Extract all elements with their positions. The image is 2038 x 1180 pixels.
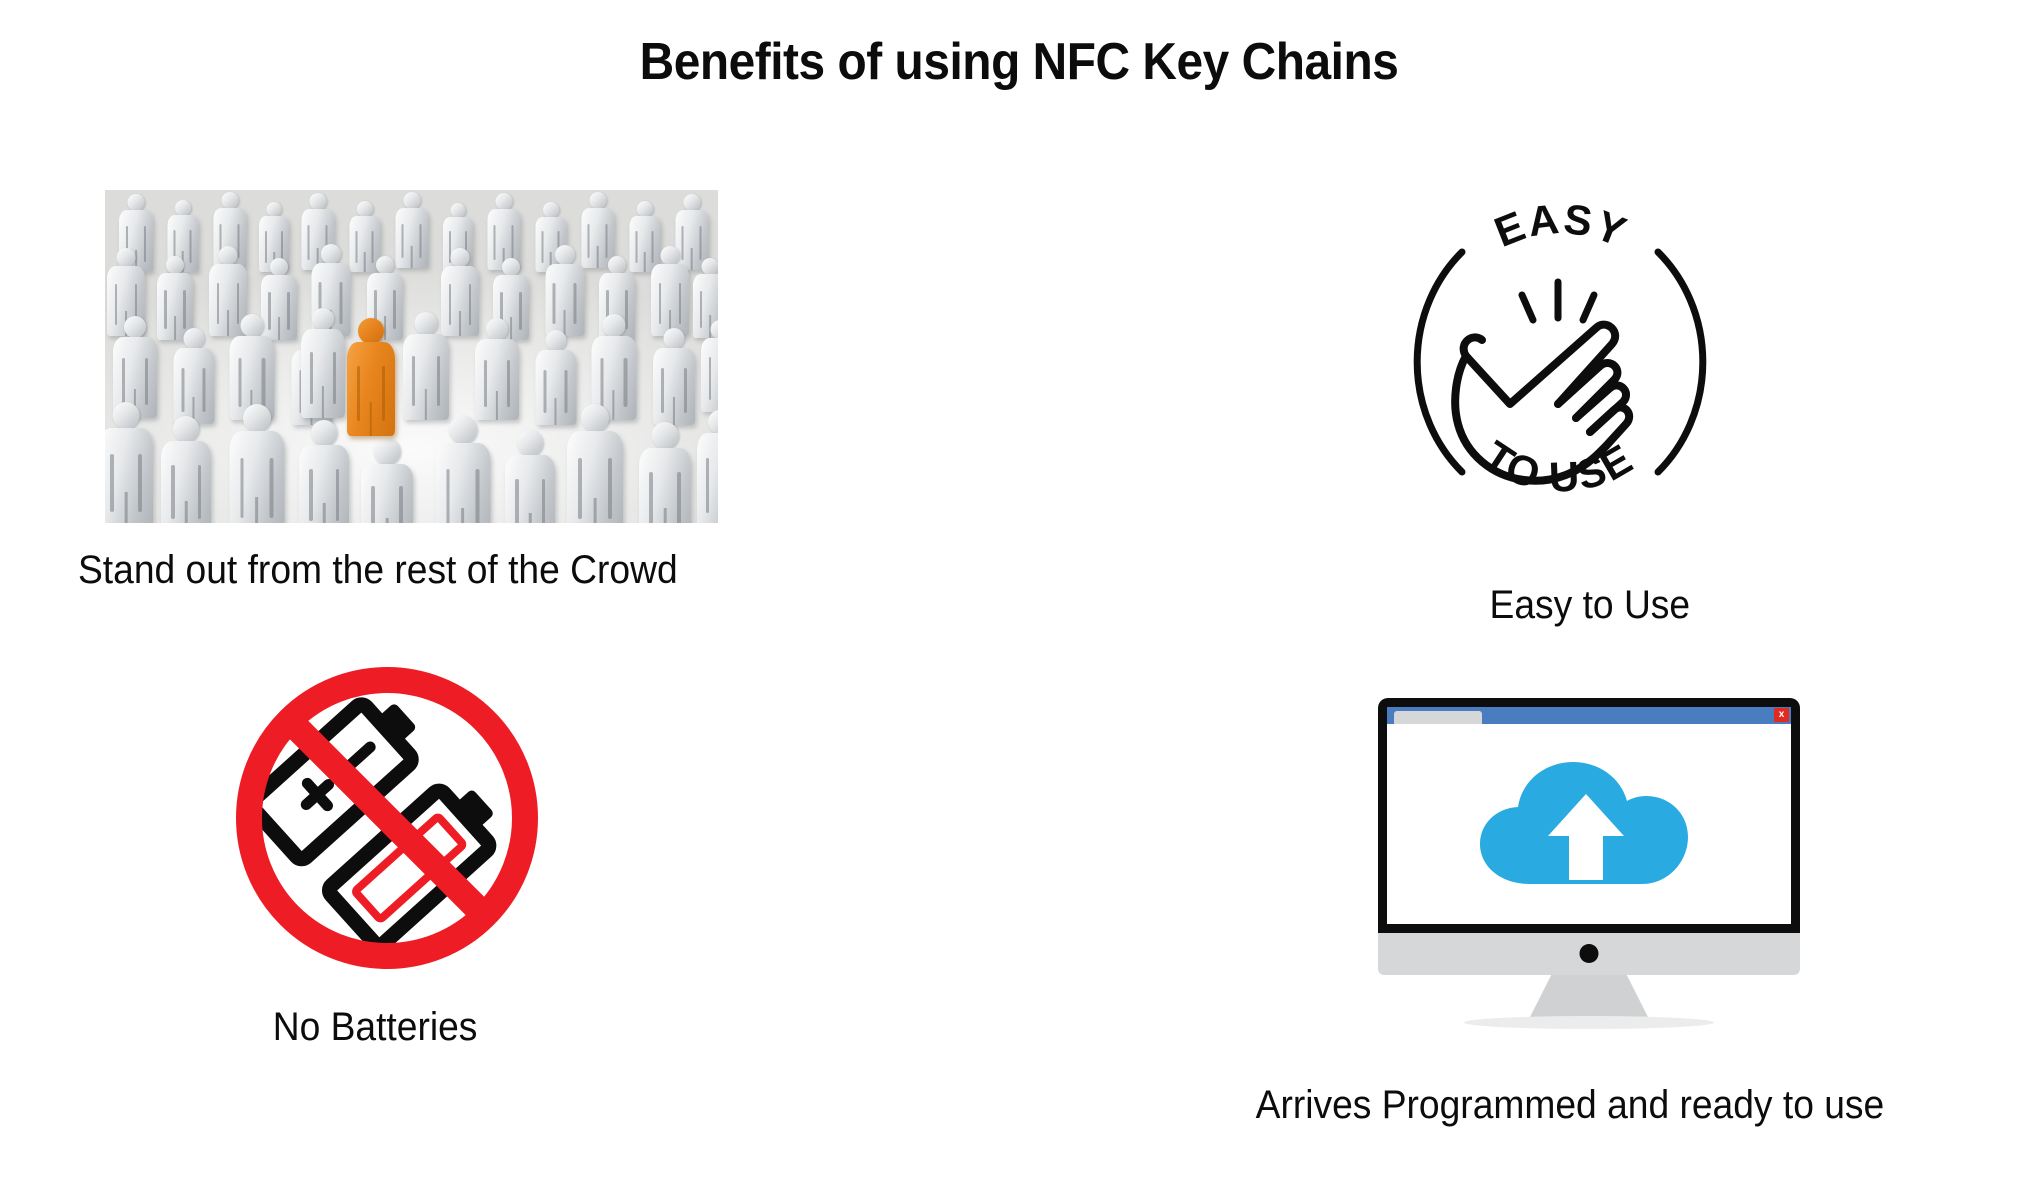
crowd-figure [161, 416, 211, 523]
prohibition-slash-icon [289, 720, 485, 916]
crowd-figure [653, 328, 695, 425]
browser-tab[interactable] [1394, 711, 1482, 724]
tap-motion-lines-icon [1522, 282, 1594, 320]
browser-titlebar: x [1387, 707, 1791, 724]
benefit-stand-out [105, 190, 718, 523]
monitor-content [1387, 738, 1791, 924]
crowd-figure [435, 416, 490, 523]
browser-address-bar[interactable] [1387, 724, 1791, 739]
crowd-highlighted-figure [347, 318, 395, 436]
crowd-figure [545, 245, 584, 336]
badge-text-bottom: TO USE [1475, 432, 1641, 501]
monitor-bezel: x [1378, 698, 1800, 933]
benefit-arrives-programmed: x [1378, 698, 1800, 1038]
badge-arc-left [1417, 252, 1462, 472]
no-batteries-icon [232, 663, 542, 973]
cloud-upload-icon [1472, 756, 1707, 906]
crowd-figure [567, 404, 623, 523]
monitor-camera-dot-icon [1580, 944, 1599, 963]
crowd-figure [229, 404, 284, 523]
close-icon[interactable]: x [1774, 708, 1789, 722]
crowd-figure [475, 318, 519, 420]
monitor-stand [1530, 975, 1648, 1017]
benefit-no-batteries [232, 663, 542, 978]
benefit-caption-easy-to-use: Easy to Use [1490, 583, 1691, 628]
crowd-figure [299, 420, 349, 523]
crowd-figure [505, 430, 555, 523]
crowd-figure [697, 410, 718, 523]
monitor-cloud-upload-icon: x [1378, 698, 1800, 1038]
monitor-shadow [1464, 1016, 1714, 1029]
crowd-figure [301, 308, 345, 418]
badge-text-top: EASY [1488, 195, 1634, 256]
crowd-figure [639, 422, 691, 523]
monitor-screen: x [1387, 707, 1791, 924]
benefit-caption-stand-out: Stand out from the rest of the Crowd [78, 548, 678, 593]
page-title: Benefits of using NFC Key Chains [82, 32, 1957, 92]
monitor-base [1378, 933, 1800, 975]
crowd-figure [361, 438, 413, 523]
benefit-caption-arrives-programmed: Arrives Programmed and ready to use [1256, 1083, 1885, 1128]
crowd-figure [403, 312, 449, 420]
badge-arc-right [1658, 252, 1703, 472]
crowd-figure [701, 320, 718, 412]
crowd-figure [173, 328, 214, 424]
easy-to-use-badge-icon: EASY TO USE [1400, 160, 1720, 550]
crowd-figure [105, 402, 153, 523]
benefit-easy-to-use: EASY TO USE [1400, 160, 1720, 555]
crowd-figure [651, 246, 689, 336]
benefit-caption-no-batteries: No Batteries [273, 1005, 478, 1050]
crowd-photo-icon [105, 190, 718, 523]
